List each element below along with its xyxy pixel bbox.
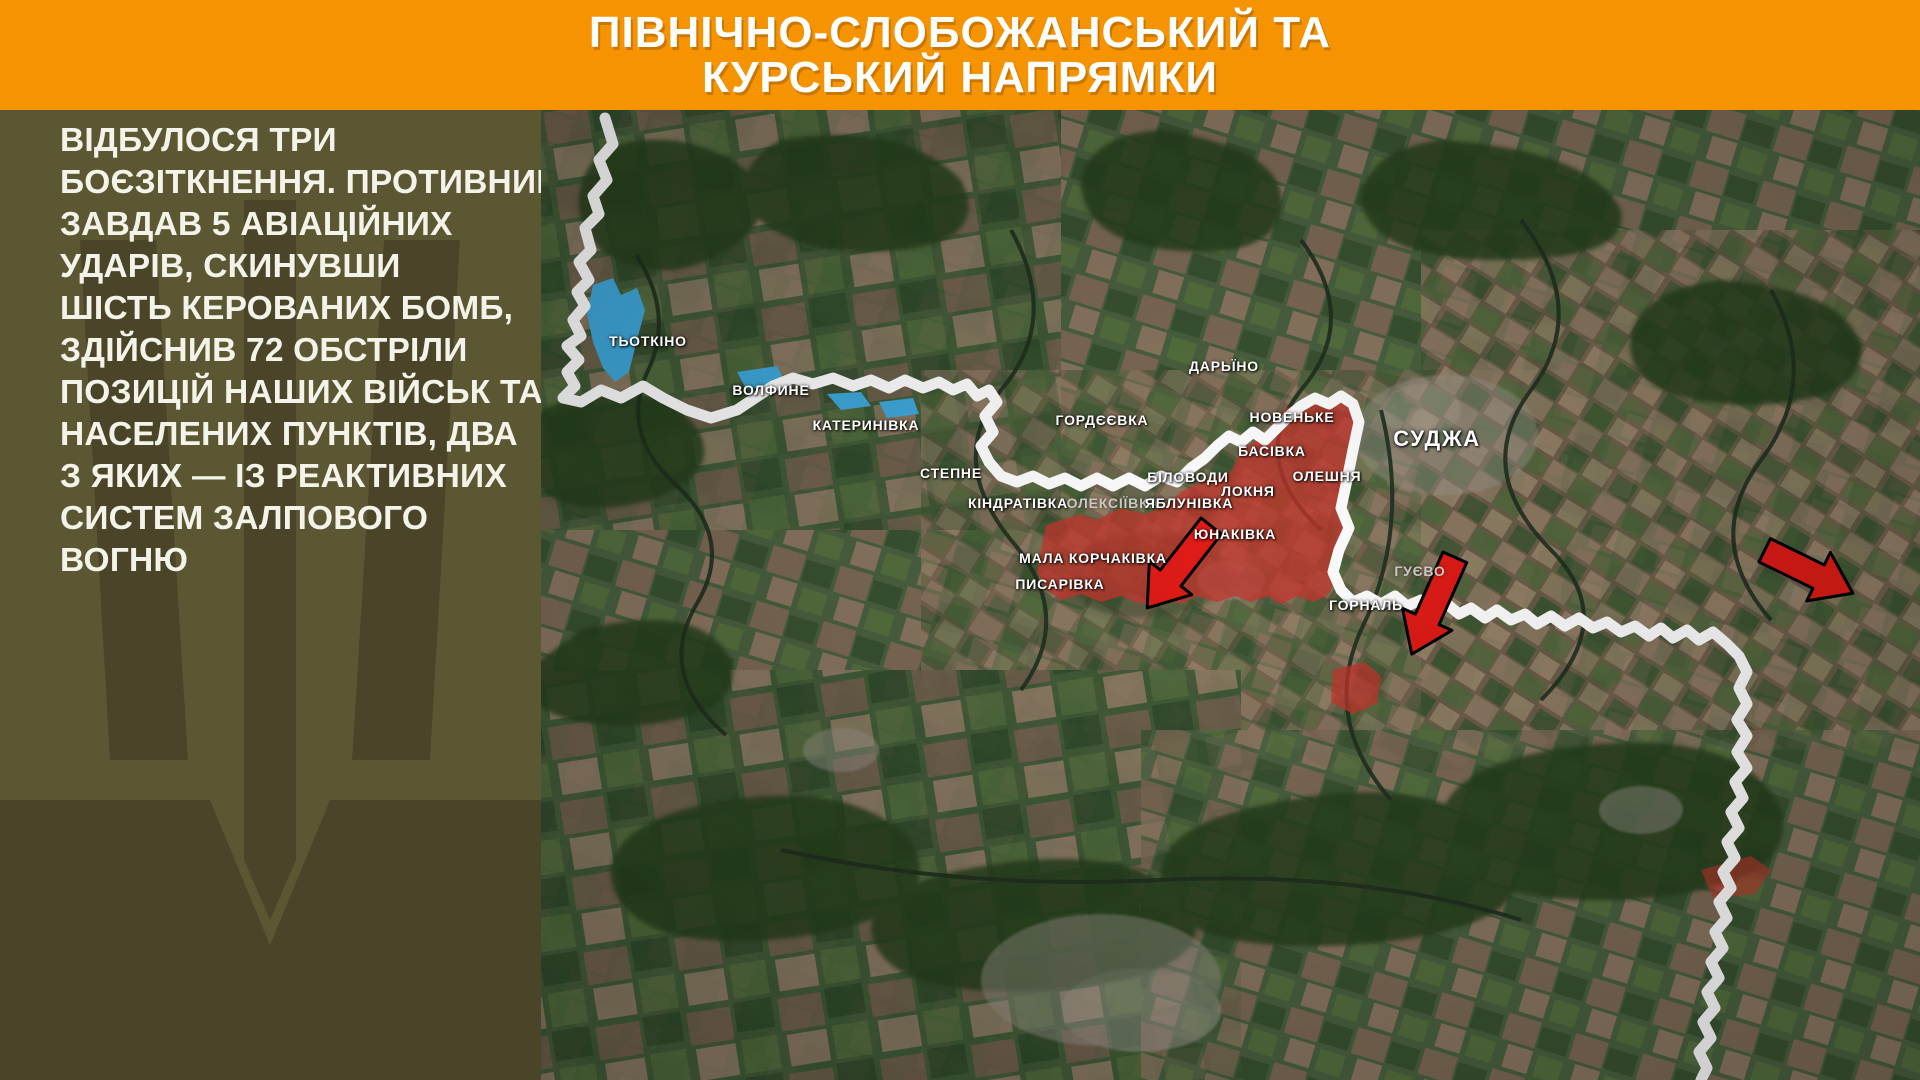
map-canvas <box>541 110 1920 1080</box>
header-banner: ПІВНІЧНО-СЛОБОЖАНСЬКИЙ ТА КУРСЬКИЙ НАПРЯ… <box>0 0 1920 110</box>
situation-report-text: ВІДБУЛОСЯ ТРИ БОЄЗІТКНЕННЯ. ПРОТИВНИК ЗА… <box>60 120 541 582</box>
page-title: ПІВНІЧНО-СЛОБОЖАНСЬКИЙ ТА КУРСЬКИЙ НАПРЯ… <box>589 10 1331 101</box>
satellite-map[interactable]: ТЬОТКІНОВОЛФИНЕКАТЕРИНІВКАСТЕПНЕКІНДРАТІ… <box>541 110 1920 1080</box>
summary-sidebar: ВІДБУЛОСЯ ТРИ БОЄЗІТКНЕННЯ. ПРОТИВНИК ЗА… <box>0 110 541 1080</box>
infographic-root: ПІВНІЧНО-СЛОБОЖАНСЬКИЙ ТА КУРСЬКИЙ НАПРЯ… <box>0 0 1920 1080</box>
